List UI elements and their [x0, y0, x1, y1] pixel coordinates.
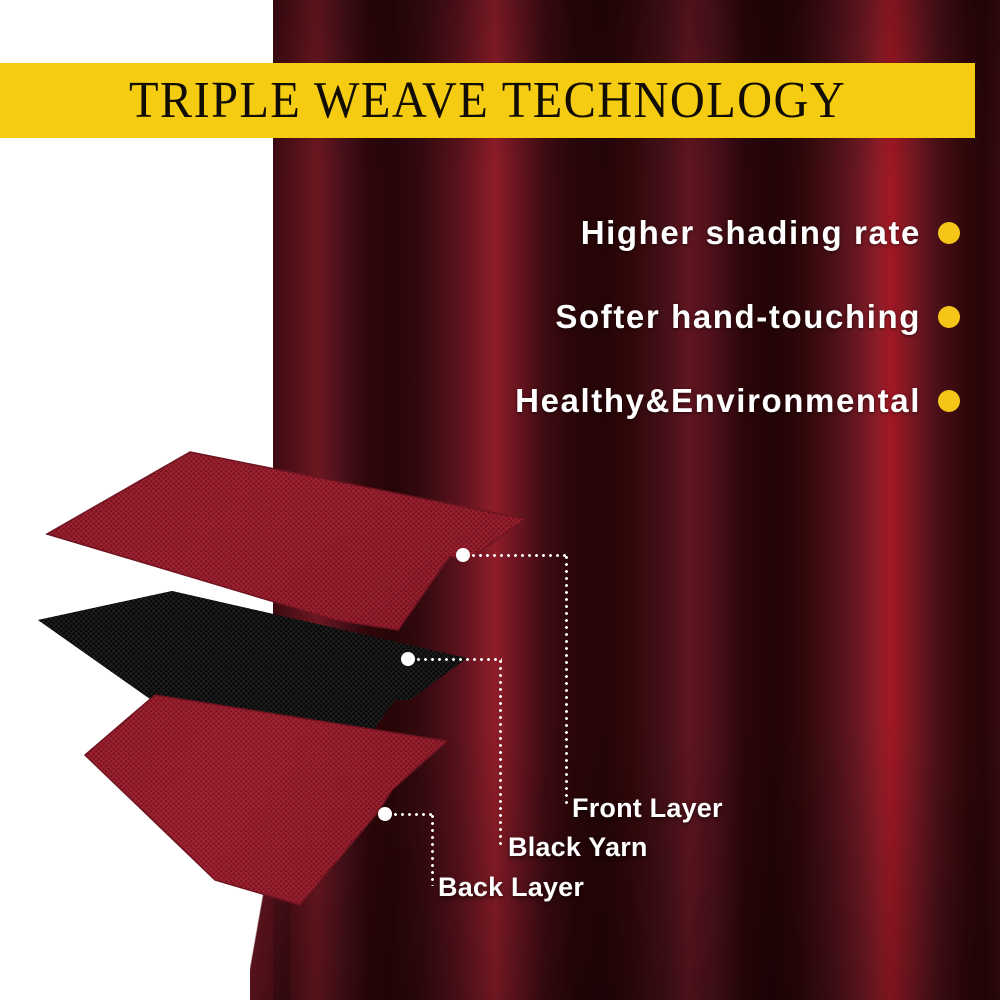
- feature-item-healthy-environmental: Healthy&Environmental: [300, 373, 960, 429]
- feature-label: Healthy&Environmental: [515, 382, 921, 420]
- feature-label: Softer hand-touching: [555, 298, 921, 336]
- label-black-yarn: Black Yarn: [508, 832, 648, 863]
- feature-item-softer-hand-touching: Softer hand-touching: [300, 289, 960, 345]
- feature-label: Higher shading rate: [581, 214, 921, 252]
- feature-list: Higher shading rate Softer hand-touching…: [300, 205, 960, 457]
- bullet-dot-icon: [938, 306, 960, 328]
- curtain-bottom-left-edge: [250, 830, 290, 1000]
- label-back-layer: Back Layer: [438, 872, 584, 903]
- bullet-dot-icon: [938, 222, 960, 244]
- page-title: TRIPLE WEAVE TECHNOLOGY: [129, 75, 846, 127]
- feature-item-higher-shading-rate: Higher shading rate: [300, 205, 960, 261]
- bullet-dot-icon: [938, 390, 960, 412]
- label-front-layer: Front Layer: [572, 793, 723, 824]
- infographic-canvas: TRIPLE WEAVE TECHNOLOGY Higher shading r…: [0, 0, 1000, 1000]
- title-banner: TRIPLE WEAVE TECHNOLOGY: [0, 63, 975, 138]
